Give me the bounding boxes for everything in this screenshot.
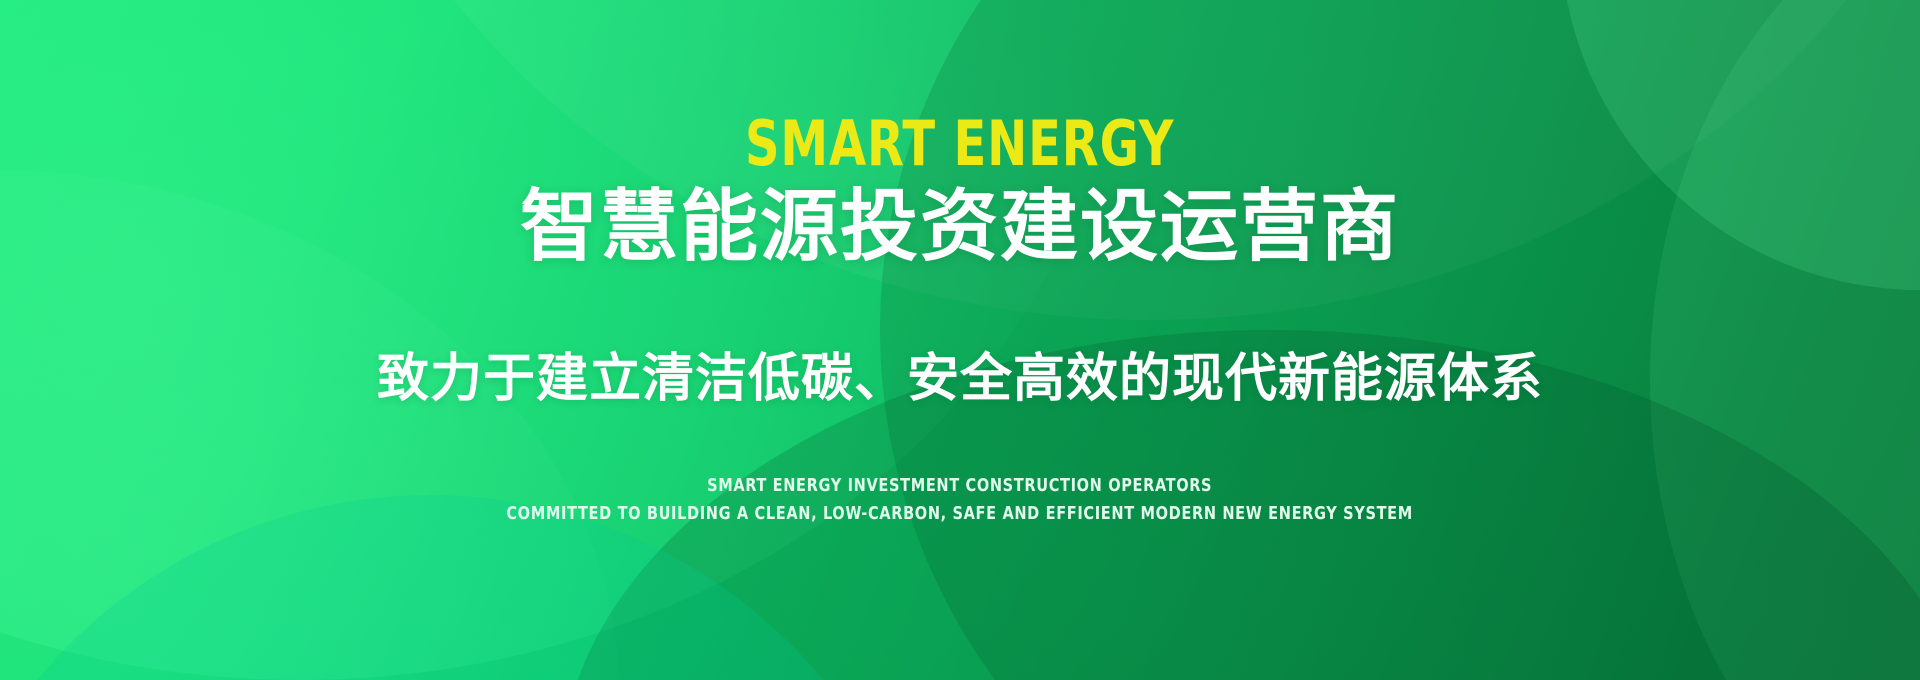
hero-banner: SMART ENERGY 智慧能源投资建设运营商 致力于建立清洁低碳、安全高效的…: [0, 0, 1920, 680]
banner-caption-block: SMART ENERGY INVESTMENT CONSTRUCTION OPE…: [456, 475, 1463, 525]
banner-headline: 智慧能源投资建设运营商: [520, 187, 1400, 265]
banner-caption-line-1: SMART ENERGY INVESTMENT CONSTRUCTION OPE…: [707, 475, 1212, 498]
banner-content: SMART ENERGY 智慧能源投资建设运营商 致力于建立清洁低碳、安全高效的…: [0, 0, 1920, 680]
banner-eyebrow-smart-energy: SMART ENERGY: [745, 113, 1174, 175]
banner-caption-line-2: COMMITTED TO BUILDING A CLEAN, LOW-CARBO…: [507, 503, 1414, 526]
banner-subheadline: 致力于建立清洁低碳、安全高效的现代新能源体系: [377, 353, 1543, 405]
